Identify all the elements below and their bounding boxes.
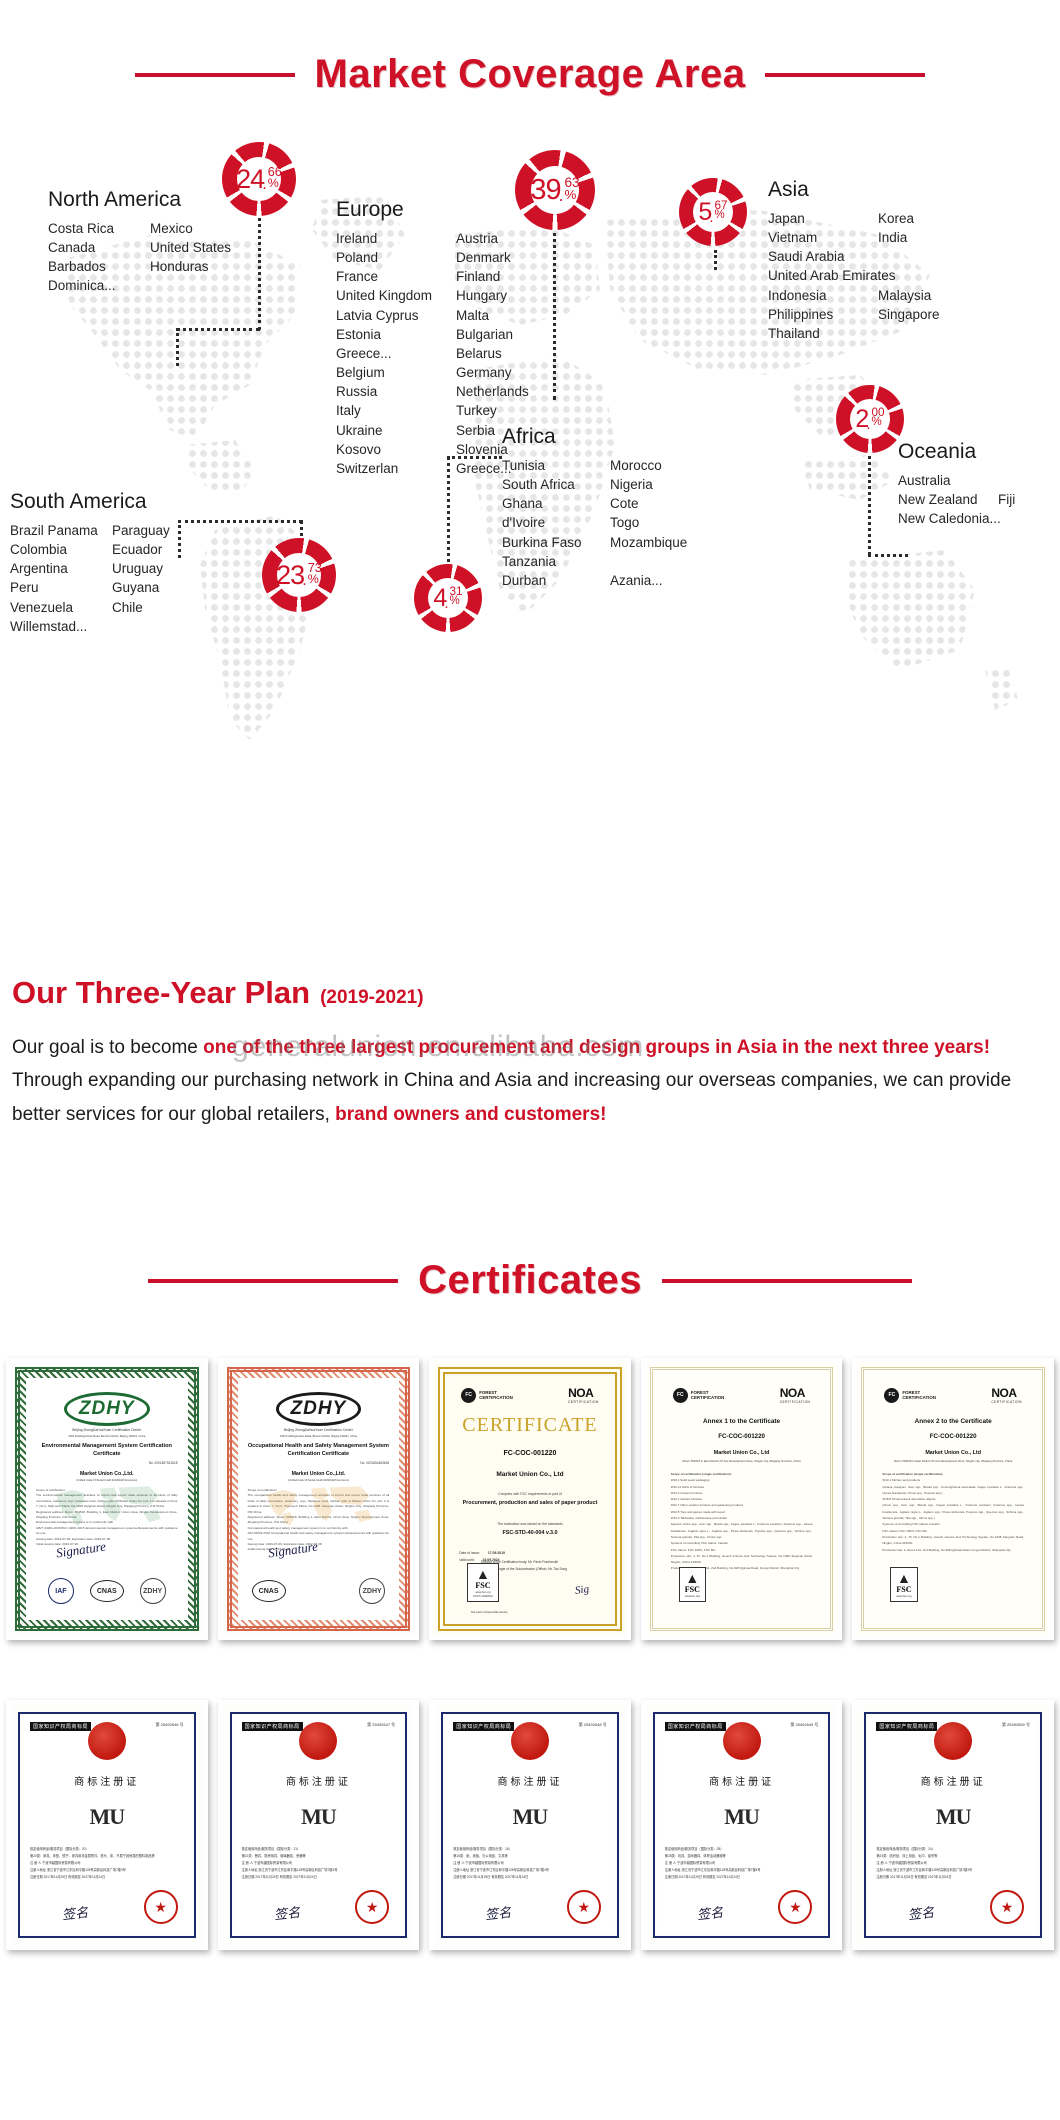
forest-certification-mark: FC FOREST CERTIFICATION [461, 1388, 513, 1403]
noa-sublabel: CERTIFICATION [568, 1400, 599, 1404]
region-asia: Asia Japan Vietnam Saudi Arabia United A… [768, 178, 940, 343]
country-item: Mozambique [610, 533, 687, 552]
fc-icon: FC [884, 1388, 899, 1403]
certificate-fsc-annex-1[interactable]: FC FOREST CERTIFICATION NOA CERTIFICATIO… [641, 1358, 843, 1640]
certificate-fsc-annex-2[interactable]: FC FOREST CERTIFICATION NOA CERTIFICATIO… [852, 1358, 1054, 1640]
plan-text-highlight-2: brand owners and customers! [335, 1104, 606, 1125]
cert-company: Market Union Co., Ltd [925, 1450, 981, 1456]
noa-logo: NOA [568, 1386, 599, 1400]
donut-percent-symbol: % [450, 596, 460, 608]
header-rule-right [765, 73, 925, 77]
trademark-owner: 注 册 人 宁波市越国际贸易有限公司 [876, 1860, 1030, 1867]
trademark-class: 核定使用商品/服务项目（国际分类：24） [876, 1846, 1030, 1853]
cert-standard: FSC-STD-40-004 v.3.0 [502, 1530, 557, 1538]
cert-inner: ZDHY Beijing ZhongDaHuaYuan Certificatio… [26, 1378, 188, 1620]
donut-oceania: 2 . 00 % [836, 385, 904, 453]
country-item [998, 471, 1015, 490]
fc-label: FOREST CERTIFICATION [479, 1390, 513, 1401]
country-item: Togo [610, 513, 687, 532]
country-item: Costa Rica [48, 219, 150, 238]
noa-logo: NOA [780, 1386, 811, 1400]
trademark-address: 注册人地址 浙江省宁波市江东区和平路128号高新区科技广场7楼4号 [665, 1867, 819, 1874]
connector-south-america-horizontal [178, 520, 302, 523]
country-column-1: Brazil Panama Colombia Argentina Peru Ve… [10, 521, 112, 636]
cert-inner: FC FOREST CERTIFICATION NOA CERTIFICATIO… [872, 1378, 1034, 1620]
certificate-environmental-management[interactable]: ZDHY Beijing ZhongDaHuaYuan Certificatio… [6, 1358, 208, 1640]
trademark-items: 第21类：餐具、厨房用具、玻璃器皿、瓷器等 [242, 1853, 396, 1860]
country-item: Barbados [48, 257, 150, 276]
region-name-south-america: South America [10, 490, 170, 514]
trademark-reg-number: 第 25492650 号 [1002, 1722, 1030, 1728]
country-item: Cote [610, 494, 687, 513]
country-column-1: Tunisia South Africa Ghana d'Ivoire Burk… [502, 456, 610, 590]
three-year-plan-section: Our Three-Year Plan (2019-2021) Our goal… [12, 975, 1052, 1131]
cert-accreditation-badges: CNAS ZDHY [238, 1578, 400, 1604]
country-item: Indonesia [768, 286, 878, 305]
cert-species: Species: Alnus spp., Acer spp., Betula s… [671, 1521, 813, 1540]
cert-center-name: Beijing ZhongDaHuaYuan Certification Cen… [36, 1428, 178, 1433]
country-item: Azania... [610, 571, 687, 590]
donut-value-europe: 39 . 63 % [530, 176, 579, 205]
trademark-brand-mark: MU [513, 1804, 548, 1830]
cert-inner: 国家知识产权局商标局 第 25492646 号 商标注册证 MU 核定使用商品/… [22, 1716, 192, 1934]
country-item: Turkey [456, 401, 529, 420]
trademark-class: 核定使用商品/服务项目（国际分类：16） [453, 1846, 607, 1853]
trademark-address: 注册人地址 浙江省宁波市江东区和平路128号高新区科技广场7楼4号 [30, 1867, 184, 1874]
market-coverage-header: Market Coverage Area [0, 52, 1060, 97]
country-item: Honduras [150, 257, 231, 276]
trademark-address: 注册人地址 浙江省宁波市江东区和平路128号高新区科技广场7楼4号 [453, 1867, 607, 1874]
plan-text-intro: Our goal is to become [12, 1037, 203, 1058]
cert-logo-row: FC FOREST CERTIFICATION NOA CERTIFICATIO… [671, 1386, 813, 1404]
trademark-certificate-2[interactable]: 国家知识产权局商标局 第 25492647 号 商标注册证 MU 核定使用商品/… [218, 1700, 420, 1950]
fsc-url: www.fsc.org [685, 1594, 700, 1598]
zdhy-seal-badge: ZDHY [140, 1578, 166, 1604]
trademark-date: 注册日期 2017年11月25日 有效期至 2027年11月24日 [453, 1874, 607, 1881]
country-item: Morocco [610, 456, 687, 475]
trademark-certificate-5[interactable]: 国家知识产权局商标局 第 25492650 号 商标注册证 MU 核定使用商品/… [852, 1700, 1054, 1950]
trademark-office-logo: 国家知识产权局商标局 [242, 1722, 303, 1731]
country-item: Netherlands [456, 382, 529, 401]
national-emblem-seal [511, 1722, 549, 1760]
country-item [878, 247, 940, 266]
cert-issue-label: Date of issue: [459, 1551, 480, 1555]
region-name-europe: Europe [336, 198, 529, 222]
country-item: Tunisia [502, 456, 610, 475]
cnas-badge: CNAS [252, 1580, 286, 1602]
country-item: Dominica... [48, 276, 150, 295]
country-item: Finland [456, 267, 529, 286]
country-item: Burkina Faso [502, 533, 610, 552]
country-item: Guyana [112, 578, 170, 597]
trademark-reg-number: 第 25492648 号 [579, 1722, 607, 1728]
country-item: Malaysia [878, 286, 940, 305]
cert-production-site-1: Production site: 4, 7F, No.1 Building, H… [671, 1553, 813, 1566]
trademark-date: 注册日期 2017年11月25日 有效期至 2027年11月24日 [242, 1874, 396, 1881]
country-item: Bulgarian [456, 325, 529, 344]
country-item: Brazil Panama [10, 521, 112, 540]
country-item: Thailand [768, 324, 878, 343]
country-item: Canada [48, 238, 150, 257]
trademark-items: 第20类：家具、床垫、镜子、家具用非金属附件、枕头、床、不属于其他类的塑料制品等 [30, 1853, 184, 1860]
trademark-owner: 注 册 人 宁波市越国际贸易有限公司 [453, 1860, 607, 1867]
fsc-logo: ▲ FSC www.fsc.org [679, 1567, 706, 1602]
donut-dot: . [709, 210, 713, 225]
header-rule-left [148, 1279, 398, 1283]
cert-issue-value: 17.09.2019 [488, 1551, 505, 1555]
header-rule-right [662, 1279, 912, 1283]
donut-north-america: 24 . 66 % [222, 142, 296, 216]
country-item: Vietnam [768, 228, 878, 247]
region-name-africa: Africa [502, 425, 687, 449]
connector-north-america-vertical [258, 205, 261, 330]
country-item: Latvia Cyprus [336, 306, 456, 325]
trademark-class: 核定使用商品/服务项目（国际分类：21） [242, 1846, 396, 1853]
trademark-reg-number: 第 25492647 号 [367, 1722, 395, 1728]
country-column-1: Japan Vietnam Saudi Arabia United Arab E… [768, 209, 878, 343]
trademark-date: 注册日期 2017年11月25日 有效期至 2027年11月24日 [30, 1874, 184, 1881]
trademark-items: 第28类：玩具、游戏器具、体育活动器械等 [665, 1853, 819, 1860]
donut-dot: . [444, 596, 448, 611]
cert-heading: CERTIFICATE [462, 1414, 597, 1437]
cert-issue-row: Date of issue: 17.09.2019 [459, 1551, 601, 1555]
region-name-oceania: Oceania [898, 440, 1015, 464]
region-name-north-america: North America [48, 188, 231, 212]
trademark-details: 核定使用商品/服务项目（国际分类：16） 第16类：纸、纸板、办公用品、文具等 … [453, 1846, 607, 1881]
country-item: Ecuador [112, 540, 170, 559]
donut-value-africa: 4 . 31 % [433, 586, 462, 611]
country-item: Saudi Arabia [768, 247, 878, 266]
cert-inner: 国家知识产权局商标局 第 25492647 号 商标注册证 MU 核定使用商品/… [234, 1716, 404, 1934]
connector-north-america-stub [176, 328, 179, 366]
national-emblem-seal [723, 1722, 761, 1760]
fsc-wordmark: FSC [896, 1585, 911, 1594]
national-emblem-seal [934, 1722, 972, 1760]
trademark-owner: 注 册 人 宁波市越国际贸易有限公司 [30, 1860, 184, 1867]
plan-years: (2019-2021) [320, 987, 424, 1009]
cert-title: Occupational Health and Safety Managemen… [248, 1443, 390, 1459]
zdhy-logo: ZDHY [64, 1392, 150, 1426]
country-item: Belarus [456, 344, 529, 363]
region-north-america: North America Costa Rica Canada Barbados… [48, 188, 231, 296]
cert-scope: Procurement, production and sales of pap… [463, 1500, 598, 1508]
trademark-class: 核定使用商品/服务项目（国际分类：28） [665, 1846, 819, 1853]
trademark-class: 核定使用商品/服务项目（国际分类：20） [30, 1846, 184, 1853]
trademark-office-logo: 国家知识产权局商标局 [453, 1722, 514, 1731]
trademark-address: 注册人地址 浙江省宁波市江东区和平路128号高新区科技广场7楼4号 [242, 1867, 396, 1874]
country-item: Colombia [10, 540, 112, 559]
trademark-red-seal: ★ [990, 1890, 1024, 1924]
donut-percent-symbol: % [715, 210, 725, 222]
country-item: Germany [456, 363, 529, 382]
trademark-brand-mark: MU [936, 1804, 971, 1830]
donut-south-america: 23 . 73 % [262, 538, 336, 612]
connector-europe-vertical [553, 220, 556, 400]
plan-text-highlight-1: one of the three largest procurement and… [203, 1037, 990, 1058]
trademark-brand-mark: MU [89, 1804, 124, 1830]
certificate-row-top: ZDHY Beijing ZhongDaHuaYuan Certificatio… [0, 1358, 1060, 1640]
country-item: Chile [112, 598, 170, 617]
cert-complies-label: Complies with FSC requirements in part o… [459, 1492, 601, 1497]
donut-whole: 39 [530, 176, 560, 205]
trademark-owner: 注 册 人 宁波市越国际贸易有限公司 [242, 1860, 396, 1867]
trademark-date: 注册日期 2017年11月25日 有效期至 2027年11月24日 [665, 1874, 819, 1881]
fsc-wordmark: FSC [685, 1585, 700, 1594]
plan-heading: Our Three-Year Plan (2019-2021) [12, 975, 1052, 1011]
region-oceania: Oceania Australia New Zealand New Caledo… [898, 440, 1015, 528]
trademark-signature: 签名 [696, 1902, 724, 1924]
country-item: India [878, 228, 940, 247]
trademark-title: 商标注册证 [497, 1773, 562, 1788]
certificate-occupational-health-safety[interactable]: ZDHY Beijing ZhongDaHuaYuan Certificatio… [218, 1358, 420, 1640]
trademark-certificate-4[interactable]: 国家知识产权局商标局 第 25492649 号 商标注册证 MU 核定使用商品/… [641, 1700, 843, 1950]
cert-company: Market Union Co., Ltd [714, 1450, 770, 1456]
cert-world-map-ghost [49, 1465, 165, 1547]
trademark-office-logo: 国家知识产权局商标局 [30, 1722, 91, 1731]
country-column-1: Costa Rica Canada Barbados Dominica... [48, 219, 150, 296]
trademark-items: 第24类：纺织品、床上用品、毛巾、窗帘等 [876, 1853, 1030, 1860]
cert-general-manager: General Manager of the Subcontractor (Of… [481, 1566, 601, 1572]
donut-value-asia: 5 . 67 % [698, 200, 727, 225]
noa-mark: NOA CERTIFICATION [780, 1386, 811, 1404]
country-item: New Zealand [898, 490, 998, 509]
donut-value-south-america: 23 . 73 % [276, 562, 322, 589]
trademark-items: 第16类：纸、纸板、办公用品、文具等 [453, 1853, 607, 1860]
fc-label-line2: CERTIFICATION [902, 1395, 936, 1401]
trademark-title: 商标注册证 [709, 1773, 774, 1788]
country-column-2: Korea India Malaysia Singapore [878, 209, 940, 343]
cert-code: FC-COC-001220 [504, 1449, 557, 1459]
fsc-tree-icon: ▲ [685, 1571, 700, 1585]
forest-certification-mark: FC FOREST CERTIFICATION [884, 1388, 936, 1403]
country-item: Belgium [336, 363, 456, 382]
donut-asia: 5 . 67 % [679, 178, 747, 246]
connector-asia-vertical [714, 250, 717, 270]
cert-inner: 国家知识产权局商标局 第 25492649 号 商标注册证 MU 核定使用商品/… [657, 1716, 827, 1934]
cert-inner: 国家知识产权局商标局 第 25492650 号 商标注册证 MU 核定使用商品/… [868, 1716, 1038, 1934]
plan-title: Our Three-Year Plan [12, 975, 310, 1011]
fsc-tree-icon: ▲ [896, 1571, 911, 1585]
noa-sublabel: CERTIFICATION [991, 1400, 1022, 1404]
fsc-tree-icon: ▲ [473, 1567, 492, 1581]
fc-label-line2: CERTIFICATION [479, 1395, 513, 1401]
cert-world-map-ghost [260, 1465, 376, 1547]
zdhy-logo: ZDHY [276, 1392, 362, 1426]
country-item: Tanzania [502, 552, 610, 571]
cert-title: Environmental Management System Certific… [36, 1443, 178, 1459]
cert-inner: FC FOREST CERTIFICATION NOA CERTIFICATIO… [449, 1378, 611, 1620]
region-africa: Africa Tunisia South Africa Ghana d'Ivoi… [502, 425, 687, 590]
country-column-1: Australia New Zealand New Caledonia... [898, 471, 998, 528]
region-south-america: South America Brazil Panama Colombia Arg… [10, 490, 170, 636]
trademark-title: 商标注册证 [286, 1773, 351, 1788]
country-item: France [336, 267, 456, 286]
country-item: Austria [456, 229, 529, 248]
connector-north-america-horizontal [176, 328, 260, 331]
connector-south-america-stub [178, 520, 181, 558]
trademark-office-logo: 国家知识产权局商标局 [876, 1722, 937, 1731]
cert-heading: Annex 1 to the Certificate [703, 1418, 780, 1427]
forest-certification-mark: FC FOREST CERTIFICATION [673, 1388, 725, 1403]
country-item: Korea [878, 209, 940, 228]
country-item: Switzerlan [336, 459, 456, 478]
cert-signature: Sig [574, 1583, 590, 1597]
noa-mark: NOA CERTIFICATION [991, 1386, 1022, 1404]
region-europe: Europe Ireland Poland France United King… [336, 198, 529, 478]
trademark-reg-number: 第 25492649 号 [790, 1722, 818, 1728]
country-item: South Africa [502, 475, 610, 494]
fc-label: FOREST CERTIFICATION [902, 1390, 936, 1401]
cert-center-address: 1902 FreMingzezhao Road, Benzen District… [248, 1435, 390, 1439]
cert-production-site-1: Production site: 4, 7F, No.1 Building, H… [882, 1534, 1024, 1547]
country-item: Fiji [998, 490, 1015, 509]
cert-heading: Annex 2 to the Certificate [915, 1418, 992, 1427]
country-item: Mexico [150, 219, 231, 238]
country-item: Poland [336, 248, 456, 267]
cert-code: FC-COC-001220 [718, 1433, 765, 1442]
country-item: Peru [10, 578, 112, 597]
country-item: d'Ivoire [502, 513, 610, 532]
country-item: United States [150, 238, 231, 257]
cert-scope-block: Scope of certification (single certifica… [882, 1471, 1024, 1553]
cert-accreditation-badges: IAF CNAS ZDHY [26, 1578, 188, 1604]
country-item: Greece... [336, 344, 456, 363]
cert-signatories: Director of the Certification body: Mr. … [481, 1559, 601, 1572]
country-item: Italy [336, 401, 456, 420]
donut-percent-symbol: % [872, 417, 882, 429]
cert-address: Room 504518 In East District Of Juxi Dev… [671, 1459, 813, 1463]
country-column-2: Paraguay Ecuador Uruguay Guyana Chile [112, 521, 170, 636]
world-map-infographic: 24 . 66 % 39 . 63 % 5 . 67 [0, 120, 1060, 910]
certificate-fsc-coc[interactable]: FC FOREST CERTIFICATION NOA CERTIFICATIO… [429, 1358, 631, 1640]
donut-percent-symbol: % [308, 573, 319, 585]
country-item: Russia [336, 382, 456, 401]
trademark-signature: 签名 [484, 1902, 512, 1924]
fsc-wordmark: FSC [473, 1581, 492, 1590]
trademark-red-seal: ★ [144, 1890, 178, 1924]
noa-logo: NOA [991, 1386, 1022, 1400]
trademark-reg-number: 第 25492646 号 [156, 1722, 184, 1728]
country-item: Ireland [336, 229, 456, 248]
country-item: Nigeria [610, 475, 687, 494]
cert-inner: FC FOREST CERTIFICATION NOA CERTIFICATIO… [661, 1378, 823, 1620]
certificates-header: Certificates [0, 1258, 1060, 1303]
cnas-badge: CNAS [90, 1580, 124, 1602]
trademark-details: 核定使用商品/服务项目（国际分类：20） 第20类：家具、床垫、镜子、家具用非金… [30, 1846, 184, 1881]
country-item: Willemstad... [10, 617, 112, 636]
country-item: United Kingdom [336, 286, 456, 305]
cert-company: Market Union Co., Ltd [496, 1471, 563, 1478]
cert-inner: 国家知识产权局商标局 第 25492648 号 商标注册证 MU 核定使用商品/… [445, 1716, 615, 1934]
donut-value-north-america: 24 . 66 % [236, 166, 282, 193]
trademark-details: 核定使用商品/服务项目（国际分类：28） 第28类：玩具、游戏器具、体育活动器械… [665, 1846, 819, 1881]
donut-dot: . [262, 176, 267, 192]
country-column-1: Ireland Poland France United Kingdom Lat… [336, 229, 456, 478]
trademark-red-seal: ★ [567, 1890, 601, 1924]
fc-icon: FC [673, 1388, 688, 1403]
country-item: Venezuela [10, 598, 112, 617]
cert-logo-row: FC FOREST CERTIFICATION NOA CERTIFICATIO… [882, 1386, 1024, 1404]
cert-valid-label: Valid until: [459, 1558, 474, 1562]
trademark-details: 核定使用商品/服务项目（国际分类：21） 第21类：餐具、厨房用具、玻璃器皿、瓷… [242, 1846, 396, 1881]
fsc-logo: ▲ FSC www.fsc.org [890, 1567, 917, 1602]
country-item: United Arab Emirates [768, 266, 878, 285]
donut-whole: 23 [276, 562, 304, 589]
trademark-owner: 注 册 人 宁波市越国际贸易有限公司 [665, 1860, 819, 1867]
trademark-signature: 签名 [907, 1902, 935, 1924]
country-item: Durban [502, 571, 610, 590]
noa-mark: NOA CERTIFICATION [568, 1386, 599, 1404]
cert-center-address: 1902 FreMingzezhao Road, Benzen District… [36, 1435, 178, 1439]
trademark-red-seal: ★ [778, 1890, 812, 1924]
national-emblem-seal [299, 1722, 337, 1760]
trademark-certificate-3[interactable]: 国家知识产权局商标局 第 25492648 号 商标注册证 MU 核定使用商品/… [429, 1700, 631, 1950]
country-column-2: Morocco Nigeria Cote Togo Mozambique Aza… [610, 456, 687, 590]
fsc-url: www.fsc.org [896, 1594, 911, 1598]
zdhy-seal-badge: ZDHY [359, 1578, 385, 1604]
trademark-title: 商标注册证 [921, 1773, 986, 1788]
country-item: Uruguay [112, 559, 170, 578]
trademark-date: 注册日期 2017年11月25日 有效期至 2027年11月24日 [876, 1874, 1030, 1881]
trademark-certificate-1[interactable]: 国家知识产权局商标局 第 25492646 号 商标注册证 MU 核定使用商品/… [6, 1700, 208, 1950]
fc-icon: FC [461, 1388, 476, 1403]
donut-dot: . [302, 572, 307, 588]
country-item: Kosovo [336, 440, 456, 459]
country-item [610, 552, 687, 571]
donut-value-oceania: 2 . 00 % [855, 407, 884, 432]
noa-sublabel: CERTIFICATION [780, 1400, 811, 1404]
trademark-brand-mark: MU [301, 1804, 336, 1830]
cert-logo-row: FC FOREST CERTIFICATION NOA CERTIFICATIO… [459, 1386, 601, 1404]
trademark-red-seal: ★ [355, 1890, 389, 1924]
page-title: Market Coverage Area [315, 52, 746, 97]
fc-label: FOREST CERTIFICATION [691, 1390, 725, 1401]
trademark-signature: 签名 [61, 1902, 89, 1924]
cert-center-name: Beijing ZhongDaHuaYuan Certification Cen… [248, 1428, 390, 1433]
fsc-license-code: FSC® A000516 [473, 1594, 492, 1598]
cert-scope-item: (Acacia mangium, Acer spp., Betula spp.,… [882, 1484, 1024, 1497]
country-item: Denmark [456, 248, 529, 267]
fsc-tagline: The mark of responsible forestry [463, 1611, 515, 1614]
cert-scope-item: (Alnus spp., Acer spp., Betula spp., Fag… [882, 1502, 1024, 1521]
trademark-brand-mark: MU [724, 1804, 759, 1830]
country-item: Estonia [336, 325, 456, 344]
trademark-title: 商标注册证 [74, 1773, 139, 1788]
certificate-row-trademarks: 国家知识产权局商标局 第 25492646 号 商标注册证 MU 核定使用商品/… [0, 1700, 1060, 1950]
donut-whole: 24 [236, 166, 264, 193]
donut-percent-symbol: % [268, 177, 279, 189]
trademark-office-logo: 国家知识产权局商标局 [665, 1722, 726, 1731]
cert-inner: ZDHY Beijing ZhongDaHuaYuan Certificatio… [238, 1378, 400, 1620]
country-item: Malta [456, 306, 529, 325]
certificates-title: Certificates [418, 1258, 642, 1303]
donut-africa: 4 . 31 % [414, 564, 482, 632]
header-rule-left [135, 73, 295, 77]
country-item: Japan [768, 209, 878, 228]
cert-production-site-2: Production site: 2, Room 101, 2nd Buildi… [882, 1547, 1024, 1553]
fc-label-line2: CERTIFICATION [691, 1395, 725, 1401]
country-item: Ghana [502, 494, 610, 513]
country-item: Philippines [768, 305, 878, 324]
donut-dot: . [866, 417, 870, 432]
country-item: Ukraine [336, 421, 456, 440]
cert-code: FC-COC-001220 [930, 1433, 977, 1442]
plan-body: Our goal is to become one of the three l… [12, 1031, 1052, 1131]
country-item [878, 266, 940, 285]
donut-dot: . [559, 187, 564, 204]
iaf-badge: IAF [48, 1578, 74, 1604]
country-item: Singapore [878, 305, 940, 324]
